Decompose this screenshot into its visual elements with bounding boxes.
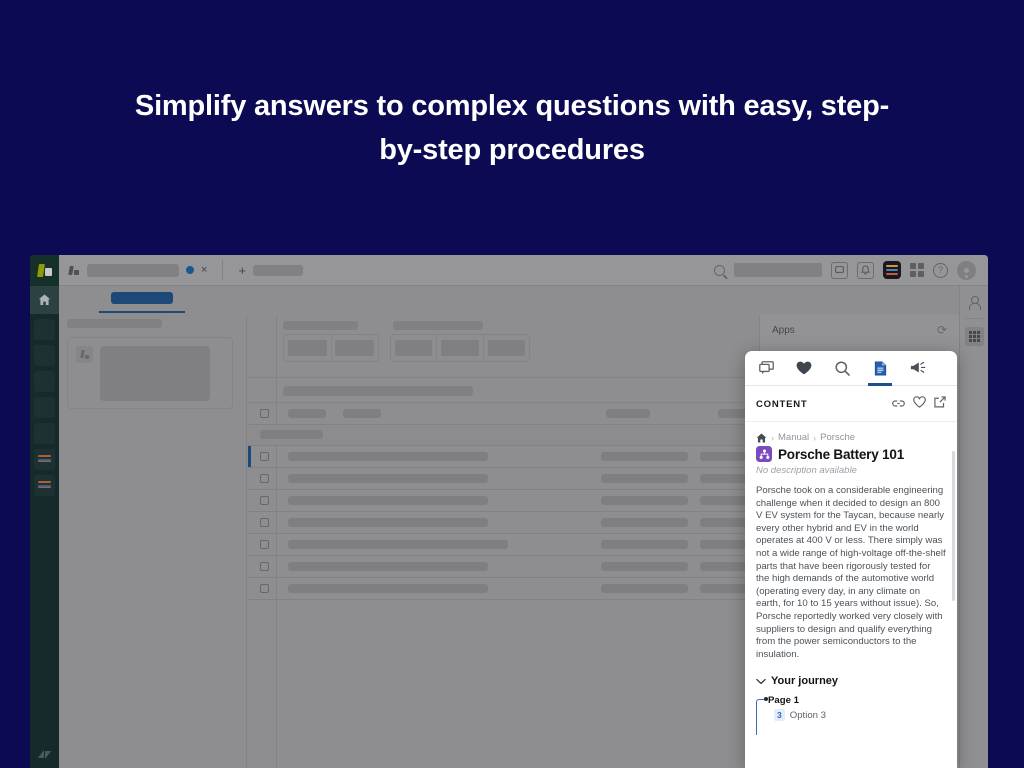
breadcrumb-separator: ›: [771, 433, 774, 443]
tab-announcements[interactable]: [899, 351, 937, 386]
row-cell-primary: [288, 474, 488, 483]
segmented-control-1[interactable]: [283, 334, 379, 362]
rail-icon-3[interactable]: [34, 371, 55, 392]
help-icon[interactable]: ?: [933, 263, 948, 278]
workspace-tab-active[interactable]: [111, 292, 173, 304]
journey-section: Your journey Page 1 3 Option 3: [745, 672, 957, 721]
segmented-control-2[interactable]: [390, 334, 530, 362]
rail-icon-4[interactable]: [34, 397, 55, 418]
tab-close-button[interactable]: ×: [201, 265, 207, 276]
zendesk-z-logo: [30, 747, 59, 762]
right-mini-rail: [959, 286, 988, 768]
content-card-tabbar: [745, 351, 957, 386]
select-all-checkbox[interactable]: [260, 409, 269, 418]
journey-option-number: 3: [774, 709, 785, 721]
content-header-title: CONTENT: [756, 399, 808, 410]
new-tab-placeholder[interactable]: [253, 265, 303, 276]
zendesk-logo: [30, 255, 59, 286]
link-icon[interactable]: [892, 395, 905, 413]
row-cell-secondary: [601, 540, 688, 549]
content-app-card: CONTENT › Manual › Porsche: [745, 351, 957, 768]
topbar-actions: ?: [714, 261, 988, 280]
products-grid-icon[interactable]: [910, 263, 924, 277]
column-header-3[interactable]: [606, 409, 650, 418]
content-scrollbar[interactable]: [952, 451, 955, 601]
column-header-2[interactable]: [343, 409, 381, 418]
row-cell-secondary: [601, 562, 688, 571]
content-header-actions: [892, 395, 946, 413]
thumbnail-placeholder: [100, 346, 210, 401]
breadcrumb-item-manual[interactable]: Manual: [778, 432, 809, 443]
tab-title-placeholder[interactable]: [87, 264, 179, 277]
rail-icon-1[interactable]: [34, 319, 55, 340]
content-card-body: › Manual › Porsche Porsche Battery 101 N…: [745, 422, 957, 661]
heart-outline-icon[interactable]: [913, 395, 926, 413]
journey-option[interactable]: 3 Option 3: [768, 709, 946, 721]
apps-grid-icon[interactable]: [965, 327, 984, 346]
thumbnail-icon: [76, 346, 93, 363]
panel-title-placeholder: [67, 319, 162, 328]
tab-search[interactable]: [823, 351, 861, 386]
row-checkbox[interactable]: [260, 562, 269, 571]
app-topbar: × + ?: [59, 255, 988, 286]
row-cell-secondary: [601, 452, 688, 461]
search-input[interactable]: [734, 263, 822, 277]
article-description: No description available: [756, 465, 946, 476]
article-title-row: Porsche Battery 101: [756, 446, 946, 462]
panel-card: [67, 337, 233, 409]
row-cell-primary: [288, 540, 508, 549]
row-cell-secondary: [601, 518, 688, 527]
chevron-down-icon[interactable]: [756, 672, 766, 690]
journey-steps: Page 1 3 Option 3: [756, 695, 946, 721]
journey-option-label: Option 3: [790, 710, 826, 721]
article-body: Porsche took on a considerable engineeri…: [756, 485, 946, 661]
rail-divider: [965, 318, 983, 319]
user-avatar[interactable]: [957, 261, 976, 280]
row-cell-secondary: [601, 474, 688, 483]
rail-icon-5[interactable]: [34, 423, 55, 444]
row-checkbox[interactable]: [260, 452, 269, 461]
notifications-icon[interactable]: [857, 262, 874, 279]
external-link-icon[interactable]: [934, 395, 946, 413]
rail-icon-lines-1[interactable]: [34, 449, 55, 470]
apps-panel-header: Apps ⟳: [760, 315, 959, 345]
tab-group: × +: [59, 260, 303, 280]
apps-panel-title: Apps: [772, 325, 795, 336]
chat-icon[interactable]: [831, 262, 848, 279]
row-cell-primary: [288, 518, 488, 527]
row-cell-primary: [288, 584, 488, 593]
rail-icon-2[interactable]: [34, 345, 55, 366]
row-checkbox[interactable]: [260, 540, 269, 549]
tab-conversations[interactable]: [747, 351, 785, 386]
journey-header[interactable]: Your journey: [756, 672, 946, 690]
row-cell-primary: [288, 452, 488, 461]
filter-pill[interactable]: [283, 386, 473, 396]
rail-icon-lines-2[interactable]: [34, 475, 55, 496]
page-title: Simplify answers to complex questions wi…: [0, 84, 1024, 172]
group-label: [260, 430, 323, 439]
content-card-header: CONTENT: [745, 386, 957, 422]
decision-tree-icon: [756, 446, 772, 462]
journey-connector-line: [756, 699, 765, 735]
tab-favorites[interactable]: [785, 351, 823, 386]
workspace-tab-underline: [99, 311, 185, 313]
left-content-panel: [67, 315, 247, 768]
home-icon[interactable]: [30, 286, 59, 314]
article-title: Porsche Battery 101: [778, 447, 904, 462]
new-tab-button[interactable]: +: [238, 264, 246, 277]
tab-content[interactable]: [861, 351, 899, 386]
row-cell-secondary: [601, 584, 688, 593]
tab-unsaved-indicator: [186, 266, 194, 274]
breadcrumb: › Manual › Porsche: [756, 432, 946, 443]
home-icon[interactable]: [756, 433, 767, 443]
toolbar-label-2: [393, 321, 483, 330]
row-cell-primary: [288, 562, 488, 571]
workspace-tab-strip: [59, 286, 988, 314]
row-cell-primary: [288, 496, 488, 505]
column-header-1[interactable]: [288, 409, 326, 418]
apps-launcher-icon[interactable]: [883, 261, 901, 279]
row-checkbox[interactable]: [260, 584, 269, 593]
refresh-icon[interactable]: ⟳: [937, 323, 947, 337]
row-cell-secondary: [601, 496, 688, 505]
row-checkbox[interactable]: [260, 518, 269, 527]
row-checkbox[interactable]: [260, 474, 269, 483]
left-icon-rail: [30, 255, 59, 768]
tab-divider: [222, 260, 223, 280]
row-checkbox[interactable]: [260, 496, 269, 505]
search-icon[interactable]: [714, 265, 725, 276]
customer-context-icon[interactable]: [967, 296, 981, 310]
breadcrumb-item-porsche[interactable]: Porsche: [820, 432, 855, 443]
toolbar-label-1: [283, 321, 358, 330]
breadcrumb-separator: ›: [813, 433, 816, 443]
app-favicon: [69, 265, 80, 276]
journey-title: Your journey: [771, 675, 838, 687]
journey-page-label[interactable]: Page 1: [768, 695, 946, 706]
